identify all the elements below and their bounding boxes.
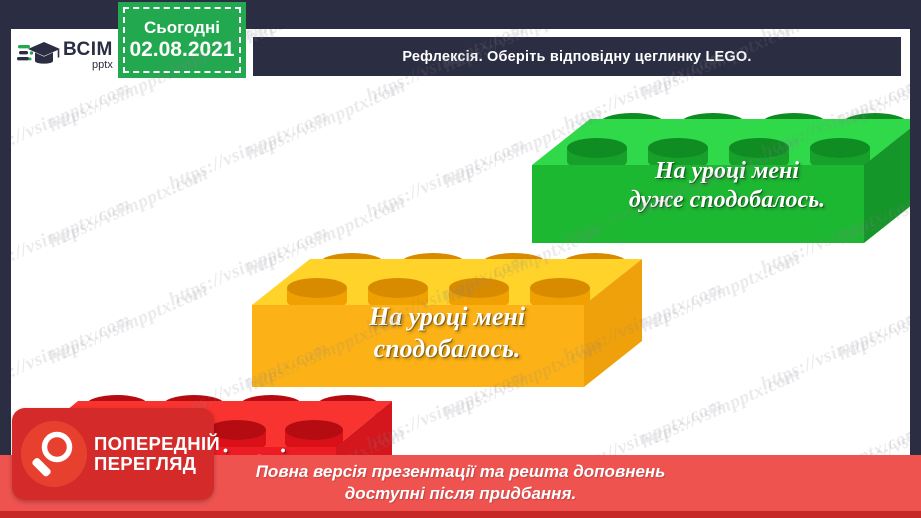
lego-brick-yellow[interactable]: На уроці мені сподобалось.: [252, 253, 642, 393]
watermark-text: https://vsimpptx.com: [46, 279, 212, 368]
brand-logo: ВСІМ pptx: [11, 29, 121, 81]
preview-badge-text: ПОПЕРЕДНІЙ ПЕРЕГЛЯД: [94, 434, 220, 474]
preview-badge-line-2: ПЕРЕГЛЯД: [94, 454, 220, 474]
logo-wordmark: ВСІМ pptx: [63, 40, 113, 71]
preview-badge[interactable]: ПОПЕРЕДНІЙ ПЕРЕГЛЯД: [12, 408, 214, 500]
banner-line-2: доступні після придбання.: [345, 483, 576, 505]
graduation-cap-icon: [17, 38, 61, 72]
slide-title-bar: Рефлексія. Оберіть відповідну цеглинку L…: [253, 37, 901, 76]
watermark-text: https://vsimpptx.com: [11, 309, 134, 398]
watermark-text: https://vsimpptx.com: [638, 248, 804, 337]
logo-suffix: pptx: [63, 60, 113, 71]
watermark-text: https://vsimpptx.com: [46, 163, 212, 252]
lego-brick-green[interactable]: На уроці мені дуже сподобалось.: [532, 113, 910, 248]
logo-name: ВСІМ: [63, 40, 113, 59]
watermark-text: https://vsimpptx.com: [11, 77, 134, 166]
magnifier-icon: [21, 421, 87, 487]
banner-line-1: Повна версія презентації та решта доповн…: [256, 461, 666, 483]
watermark-text: https://vsimpptx.com: [638, 364, 804, 453]
date-badge-label: Сьогодні: [144, 18, 220, 38]
watermark-text: https://vsimpptx.com: [11, 193, 134, 282]
presentation-slide: На уроці мені дуже сподобалось.: [0, 0, 921, 518]
watermark-text: https://vsimpptx.com: [243, 75, 409, 164]
watermark-text: https://vsimpptx.com: [758, 306, 910, 395]
today-date-badge: Сьогодні 02.08.2021: [118, 2, 246, 78]
watermark-text: https://vsimpptx.com: [835, 276, 910, 365]
date-badge-value: 02.08.2021: [129, 37, 234, 62]
watermark-text: https://vsimpptx.com: [11, 135, 14, 224]
page-title: Рефлексія. Оберіть відповідну цеглинку L…: [402, 49, 751, 65]
watermark-text: https://vsimpptx.com: [363, 133, 529, 222]
preview-badge-line-1: ПОПЕРЕДНІЙ: [94, 434, 220, 454]
watermark-text: https://vsimpptx.com: [11, 251, 14, 340]
banner-bottom-strip: [0, 511, 921, 518]
watermark-text: https://vsimpptx.com: [166, 105, 332, 194]
